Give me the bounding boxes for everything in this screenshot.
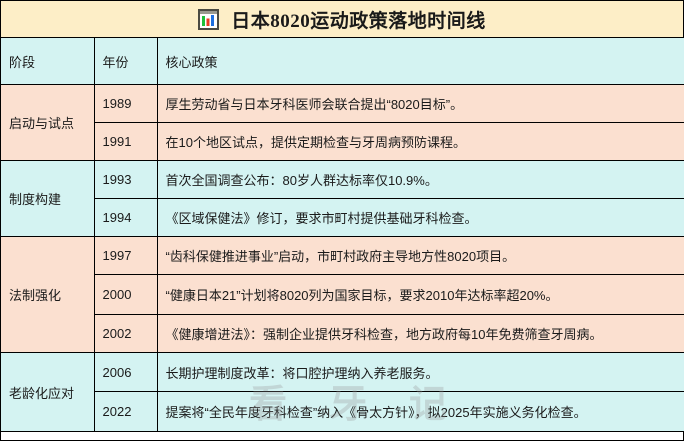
page-title: 日本8020运动政策落地时间线	[231, 6, 486, 33]
year-cell: 2000	[94, 275, 157, 315]
year-cell: 1997	[94, 237, 157, 275]
policy-timeline-table: 阶段 年份 核心政策 启动与试点 1989 厚生劳动省与日本牙科医师会联合提出“…	[1, 38, 684, 432]
table-row: 2000 “健康日本21”计划将8020列为国家目标，要求2010年达标率超20…	[1, 275, 684, 315]
column-header-year: 年份	[94, 38, 157, 85]
year-cell: 1993	[94, 161, 157, 199]
table-row: 2022 提案将“全民年度牙科检查”纳入《骨太方针》，拟2025年实施义务化检查…	[1, 392, 684, 432]
table-header-row: 阶段 年份 核心政策	[1, 38, 684, 85]
title-bar: 日本8020运动政策落地时间线	[1, 1, 683, 38]
table-row: 1994 《区域保健法》修订，要求市町村提供基础牙科检查。	[1, 199, 684, 237]
table-row: 2002 《健康增进法》：强制企业提供牙科检查，地方政府每10年免费筛查牙周病。	[1, 315, 684, 353]
table-row: 1991 在10个地区试点，提供定期检查与牙周病预防课程。	[1, 123, 684, 161]
column-header-policy: 核心政策	[157, 38, 684, 85]
stage-label-1: 制度构建	[1, 161, 94, 237]
stage-label-0: 启动与试点	[1, 85, 94, 161]
stage-label-3: 老龄化应对	[1, 353, 94, 432]
policy-cell: 首次全国调查公布：80岁人群达标率仅10.9%。	[157, 161, 684, 199]
policy-cell: “健康日本21”计划将8020列为国家目标，要求2010年达标率超20%。	[157, 275, 684, 315]
policy-cell: 厚生劳动省与日本牙科医师会联合提出“8020目标”。	[157, 85, 684, 123]
timeline-table-page: 日本8020运动政策落地时间线 阶段 年份 核心政策 启动与试点 1989 厚生…	[0, 0, 684, 441]
year-cell: 1989	[94, 85, 157, 123]
bar-chart-icon	[198, 9, 219, 30]
year-cell: 1994	[94, 199, 157, 237]
policy-cell: “齿科保健推进事业”启动，市町村政府主导地方性8020项目。	[157, 237, 684, 275]
year-cell: 2002	[94, 315, 157, 353]
table-row: 启动与试点 1989 厚生劳动省与日本牙科医师会联合提出“8020目标”。	[1, 85, 684, 123]
table-row: 老龄化应对 2006 长期护理制度改革：将口腔护理纳入养老服务。	[1, 353, 684, 392]
column-header-stage: 阶段	[1, 38, 94, 85]
policy-cell: 《区域保健法》修订，要求市町村提供基础牙科检查。	[157, 199, 684, 237]
policy-cell: 在10个地区试点，提供定期检查与牙周病预防课程。	[157, 123, 684, 161]
policy-cell: 《健康增进法》：强制企业提供牙科检查，地方政府每10年免费筛查牙周病。	[157, 315, 684, 353]
year-cell: 2022	[94, 392, 157, 432]
table-row: 制度构建 1993 首次全国调查公布：80岁人群达标率仅10.9%。	[1, 161, 684, 199]
stage-label-2: 法制强化	[1, 237, 94, 353]
policy-cell: 提案将“全民年度牙科检查”纳入《骨太方针》，拟2025年实施义务化检查。	[157, 392, 684, 432]
year-cell: 1991	[94, 123, 157, 161]
year-cell: 2006	[94, 353, 157, 392]
policy-cell: 长期护理制度改革：将口腔护理纳入养老服务。	[157, 353, 684, 392]
table-row: 法制强化 1997 “齿科保健推进事业”启动，市町村政府主导地方性8020项目。	[1, 237, 684, 275]
